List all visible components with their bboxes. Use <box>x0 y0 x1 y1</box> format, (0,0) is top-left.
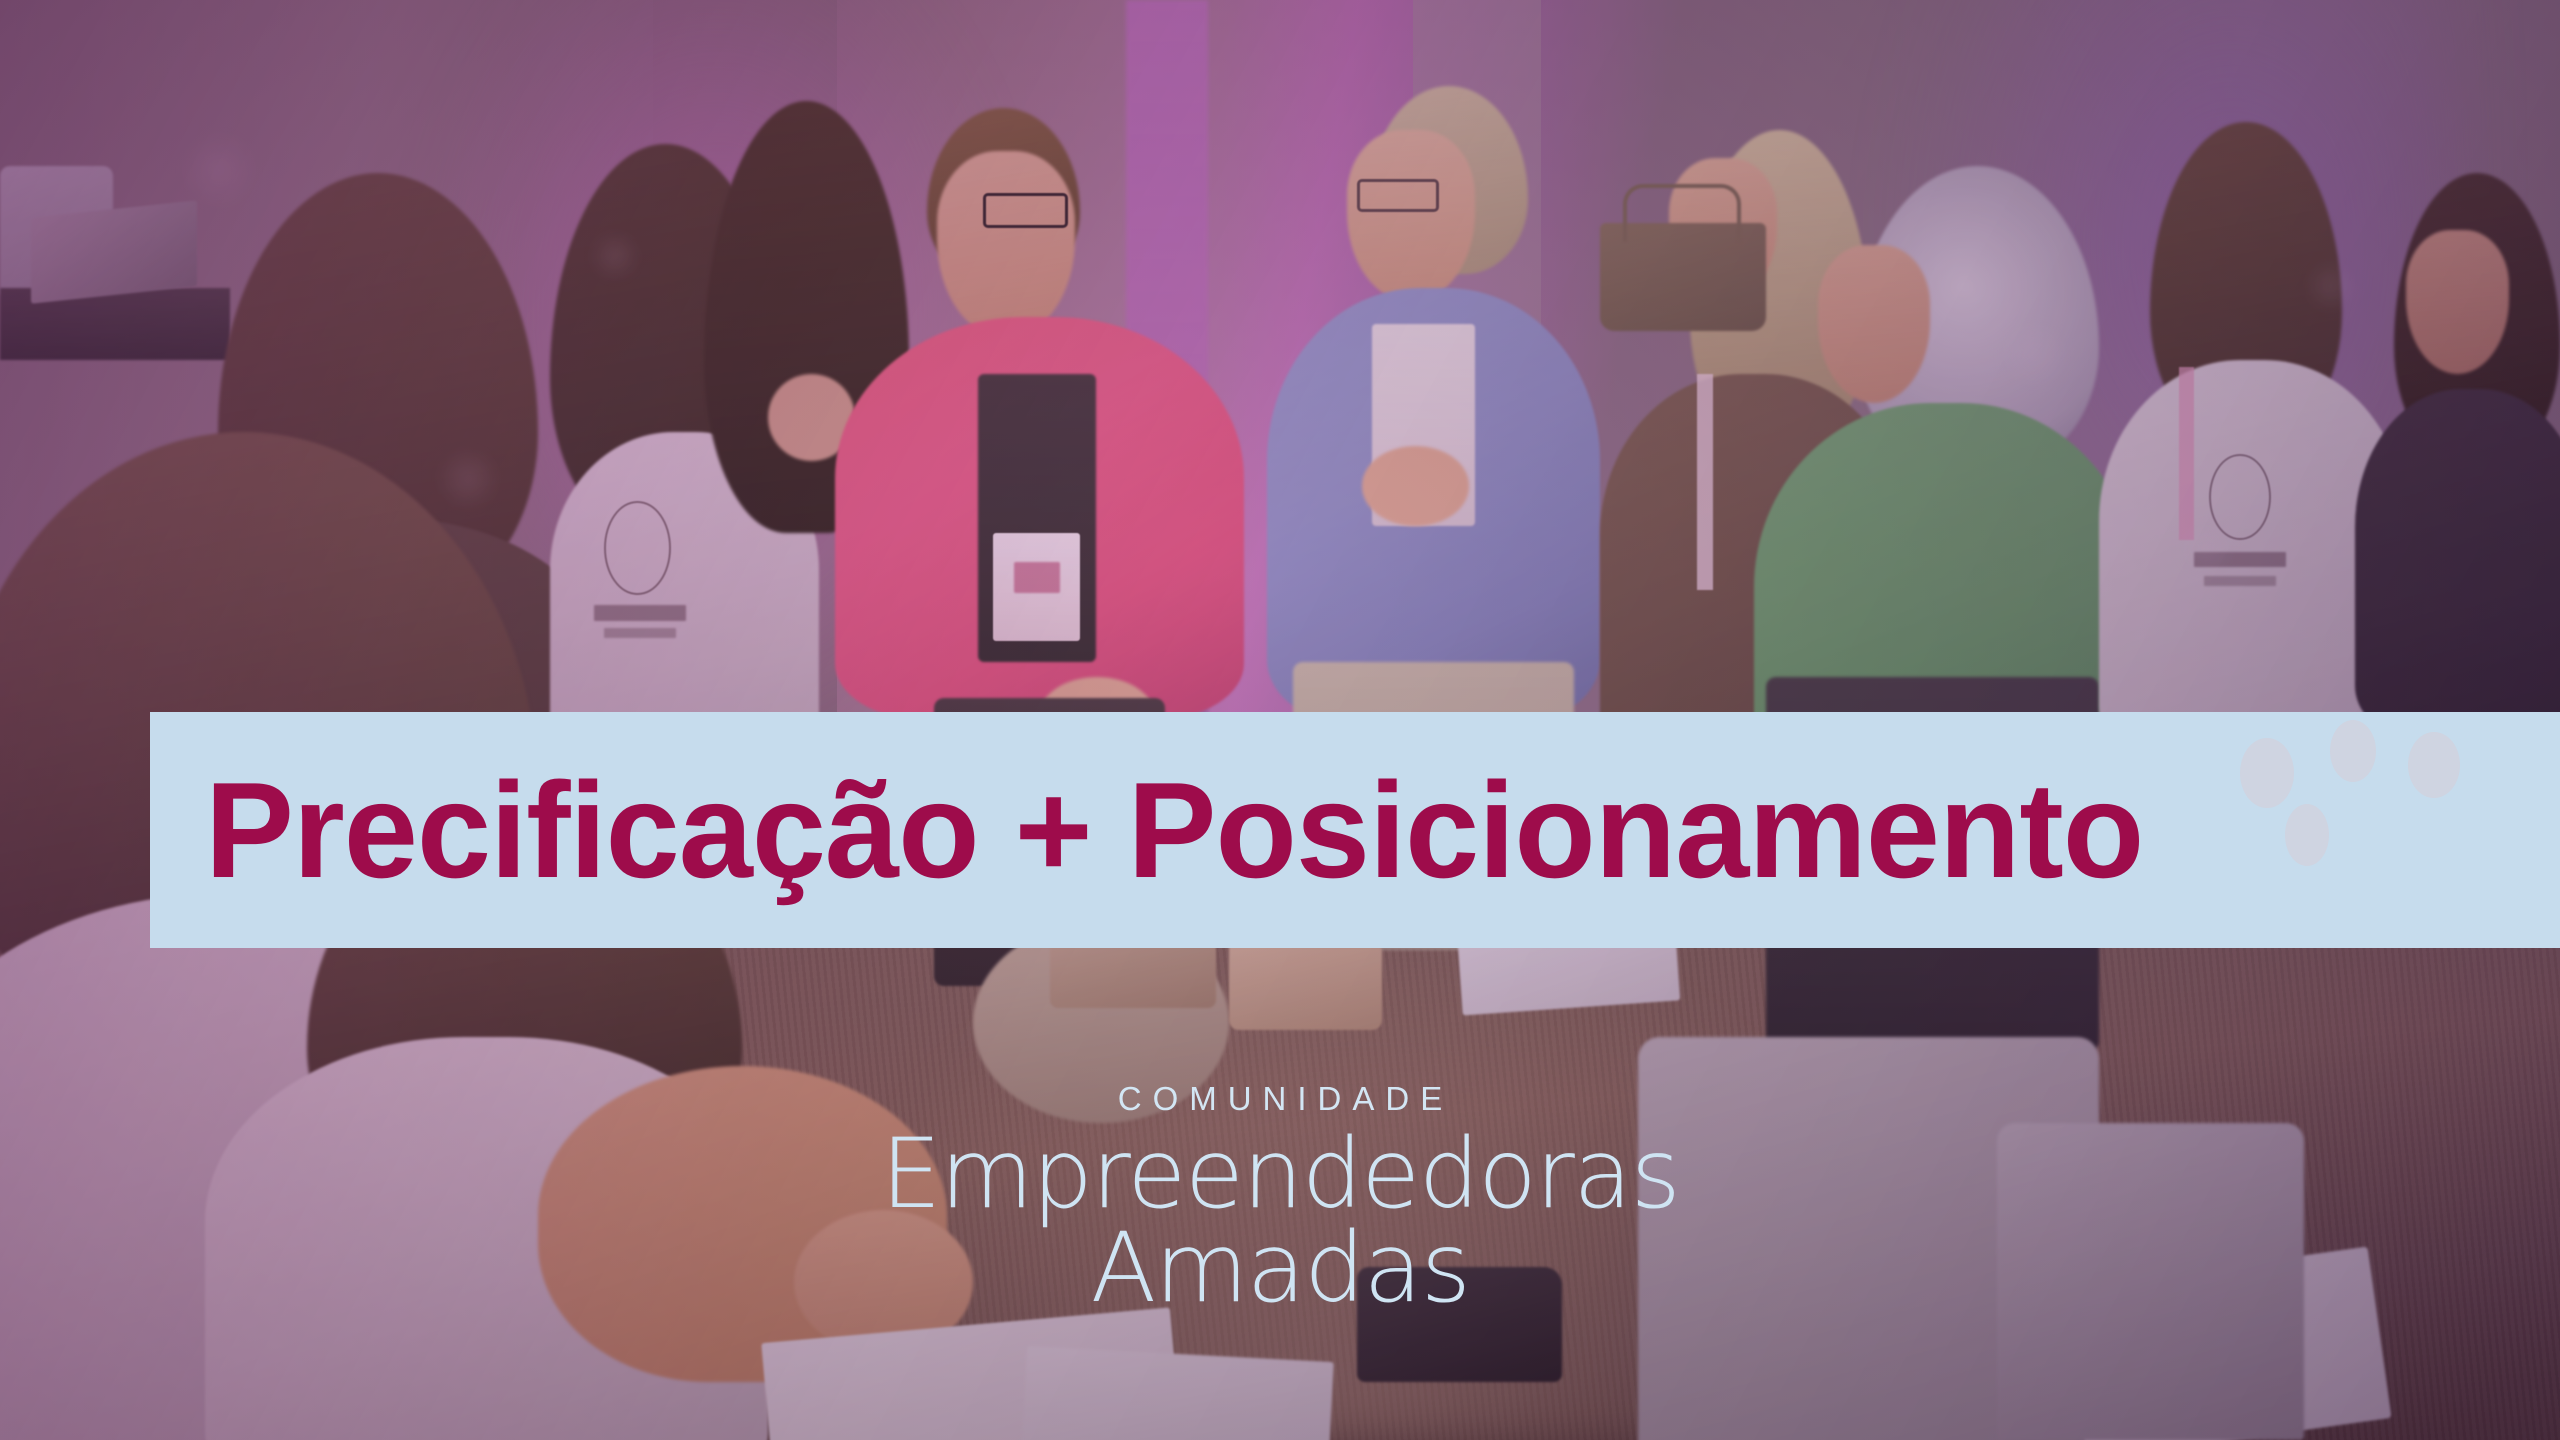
page-title: Precificação + Posicionamento <box>205 762 2143 898</box>
deco-dot-2-icon <box>2330 720 2376 782</box>
headline-banner: Precificação + Posicionamento <box>150 712 2560 948</box>
deco-dot-1-icon <box>2240 738 2294 808</box>
creative-canvas: Precificação + Posicionamento COMUNIDADE… <box>0 0 2560 1440</box>
deco-dot-3-icon <box>2408 732 2460 798</box>
deco-dot-4-icon <box>2285 804 2329 866</box>
